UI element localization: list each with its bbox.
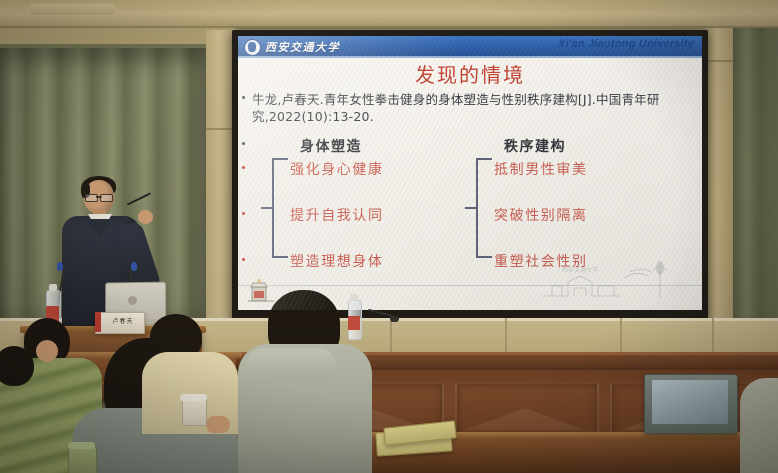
audience-travel-mug	[68, 446, 97, 473]
microphone-right-head	[131, 262, 137, 271]
presenter-hand	[138, 210, 153, 224]
column-header-left: 身体塑造	[300, 136, 362, 156]
svg-text:西安交通大学: 西安交通大学	[562, 266, 598, 274]
column-header-right: 秩序建构	[504, 136, 566, 156]
audience-hand-1	[36, 340, 58, 362]
xjtu-seal-inner	[248, 42, 256, 52]
row-bullet-3	[242, 258, 245, 261]
stage-bottle-label	[348, 316, 360, 330]
slide-citation: 牛龙,卢春天.青年女性拳击健身的身体塑造与性别秩序建构[J].中国青年研究,20…	[252, 91, 692, 125]
header-bullet	[242, 142, 245, 145]
name-placard-text: 卢春天	[104, 316, 142, 325]
brace-left	[262, 154, 280, 262]
name-placard-stripe	[95, 312, 101, 332]
audience-head-6	[0, 346, 34, 386]
audience-hand-3	[206, 416, 230, 433]
xjtu-seal-logo	[244, 39, 261, 56]
banner-underline	[238, 56, 702, 58]
presenter-bottle-cap	[49, 284, 57, 291]
wood-chevron-2	[465, 408, 585, 430]
citation-bullet	[242, 96, 245, 99]
audience-paper-cup	[182, 398, 207, 426]
lecture-hall-photo: 西安交通大学 Xi'an Jiaotong University 发现的情境 牛…	[0, 0, 778, 473]
banner-university-en: Xi'an Jiaotong University	[558, 38, 694, 50]
presenter-laptop-logo	[128, 296, 137, 305]
lectern-clipart	[244, 279, 278, 305]
right-item-1: 抵制男性审美	[494, 159, 588, 179]
banner-university-cn: 西安交通大学	[265, 39, 340, 55]
audience-travel-mug-lid	[68, 442, 95, 449]
left-item-2: 提升自我认同	[290, 205, 384, 225]
audience-body-5	[740, 378, 778, 473]
stage-bottle-cap	[350, 294, 358, 301]
right-curtain	[731, 28, 778, 358]
microphone-left-head	[57, 262, 63, 271]
projection-screen: 西安交通大学 Xi'an Jiaotong University 发现的情境 牛…	[238, 36, 702, 310]
presenter-glasses	[85, 194, 113, 200]
right-item-2: 突破性别隔离	[494, 205, 588, 225]
audience-paper-cup-lid	[180, 394, 207, 401]
ceiling-vent	[30, 4, 115, 15]
audience-hood-4	[246, 348, 336, 382]
left-item-3: 塑造理想身体	[290, 251, 384, 271]
stage-microphone-head	[390, 316, 399, 322]
row-bullet-1	[242, 166, 245, 169]
row-bullet-2	[242, 212, 245, 215]
campus-building-watermark: 西安交通大学	[534, 248, 684, 304]
audience-laptop-screen	[652, 380, 728, 424]
brace-right	[466, 154, 484, 262]
left-item-1: 强化身心健康	[290, 159, 384, 179]
slide-title: 发现的情境	[238, 59, 702, 88]
